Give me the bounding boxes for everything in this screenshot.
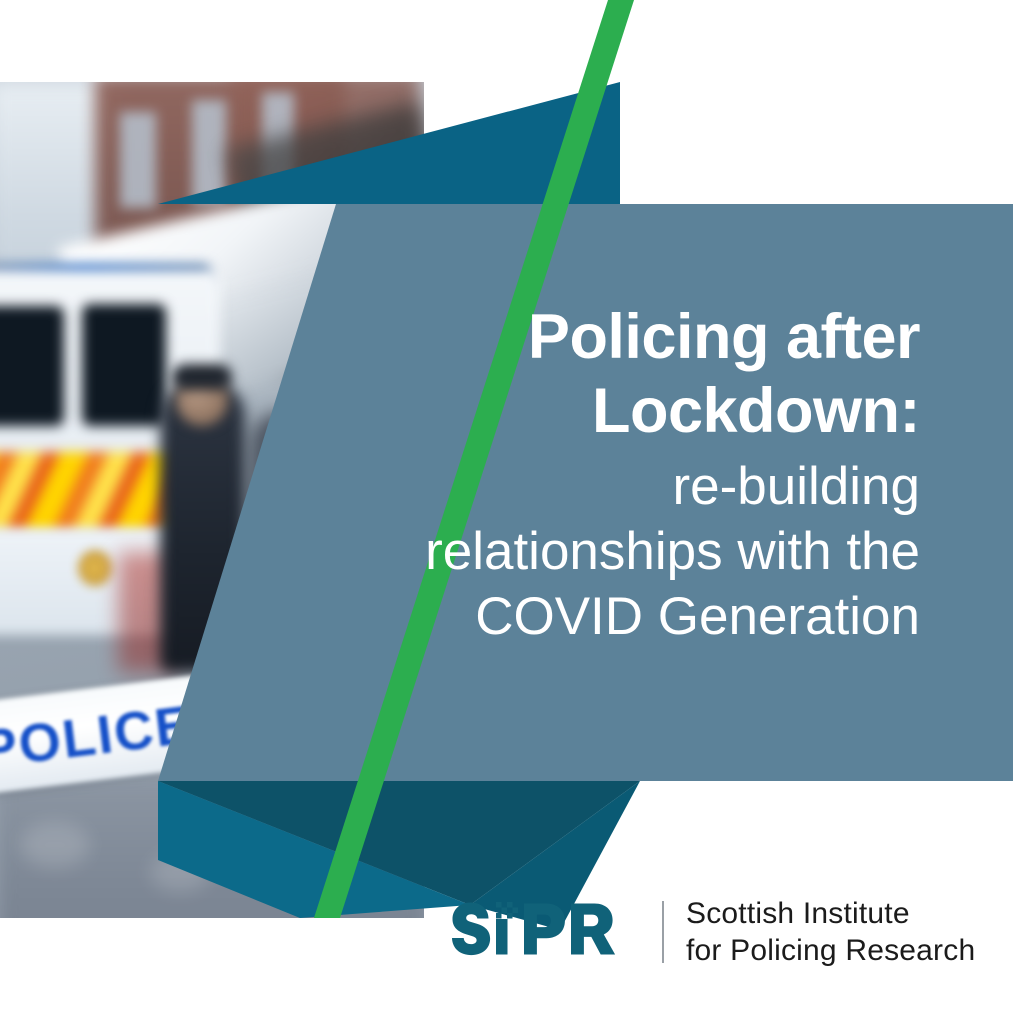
logo-tagline-line-2: for Policing Research	[686, 932, 975, 969]
checker-square	[507, 913, 513, 919]
sipr-logo: Scottish Institute for Policing Research	[452, 893, 975, 971]
letter-p	[524, 904, 565, 955]
poster-canvas: POLICE LINE Policing after Lockdown: re-…	[0, 0, 1024, 1024]
checker-square	[502, 908, 508, 914]
letter-i-stem	[496, 919, 508, 955]
white-wedge-top-right	[620, 0, 1024, 204]
checker-square	[513, 908, 519, 914]
sipr-wordmark	[452, 901, 638, 963]
letter-r	[571, 904, 615, 955]
subtitle-line-2: relationships with the	[390, 519, 920, 584]
subtitle-line-1: re-building	[390, 454, 920, 519]
logo-tagline: Scottish Institute for Policing Research	[686, 895, 975, 969]
subtitle-line-3: COVID Generation	[390, 584, 920, 649]
title-line-1: Policing after	[390, 300, 920, 374]
logo-divider	[662, 901, 664, 963]
white-bottom-left	[0, 918, 424, 1024]
headline-block: Policing after Lockdown: re-building rel…	[390, 300, 920, 649]
letter-s	[452, 903, 490, 956]
checker-square	[507, 902, 513, 908]
logo-tagline-line-1: Scottish Institute	[686, 895, 975, 932]
title-line-2: Lockdown:	[390, 374, 920, 448]
checker-square	[496, 902, 502, 908]
checker-square	[496, 913, 502, 919]
